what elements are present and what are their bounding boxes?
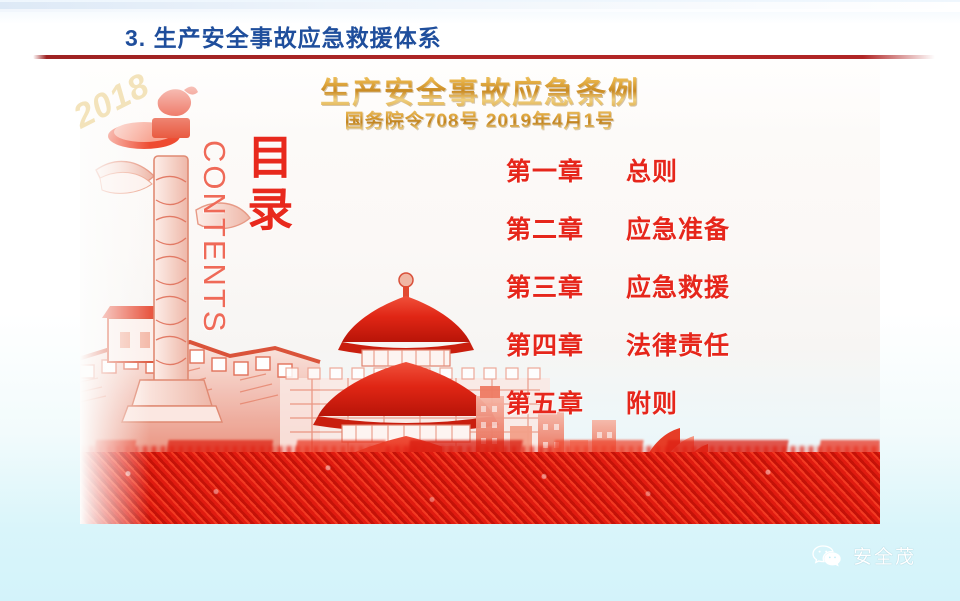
top-decorative-band bbox=[0, 2, 960, 9]
chapter-item-5[interactable]: 第五章 附则 bbox=[506, 384, 836, 442]
chapter-name: 总则 bbox=[626, 152, 678, 188]
chapter-number: 第三章 bbox=[506, 268, 626, 304]
chapter-name: 附则 bbox=[626, 384, 678, 420]
chapter-number: 第一章 bbox=[506, 152, 626, 188]
page-title: 3. 生产安全事故应急救援体系 bbox=[125, 19, 442, 53]
wechat-watermark: 安全茂 bbox=[812, 542, 916, 569]
chapter-name: 法律责任 bbox=[626, 326, 730, 362]
chapter-item-1[interactable]: 第一章 总则 bbox=[506, 152, 836, 210]
chapter-list: 第一章 总则 第二章 应急准备 第三章 应急救援 第四章 法律责任 第五章 附则 bbox=[506, 152, 836, 442]
chapter-name: 应急救援 bbox=[626, 268, 730, 304]
chapter-number: 第四章 bbox=[506, 326, 626, 362]
red-flower-field bbox=[80, 452, 880, 524]
chapter-number: 第二章 bbox=[506, 210, 626, 246]
chapter-item-3[interactable]: 第三章 应急救援 bbox=[506, 268, 836, 326]
regulation-subtitle: 国务院令708号 2019年4月1号 bbox=[0, 106, 960, 133]
header-divider bbox=[33, 55, 935, 59]
contents-label-chinese: 目录 bbox=[243, 133, 291, 237]
chapter-item-2[interactable]: 第二章 应急准备 bbox=[506, 210, 836, 268]
chapter-item-4[interactable]: 第四章 法律责任 bbox=[506, 326, 836, 384]
top-decorative-band-secondary bbox=[0, 9, 960, 12]
chapter-name: 应急准备 bbox=[626, 210, 730, 246]
wechat-icon bbox=[812, 544, 844, 568]
chapter-number: 第五章 bbox=[506, 384, 626, 420]
contents-label-english: CONTENTS bbox=[196, 140, 232, 335]
presentation-slide: 3. 生产安全事故应急救援体系 bbox=[0, 0, 960, 601]
watermark-text: 安全茂 bbox=[853, 542, 916, 569]
